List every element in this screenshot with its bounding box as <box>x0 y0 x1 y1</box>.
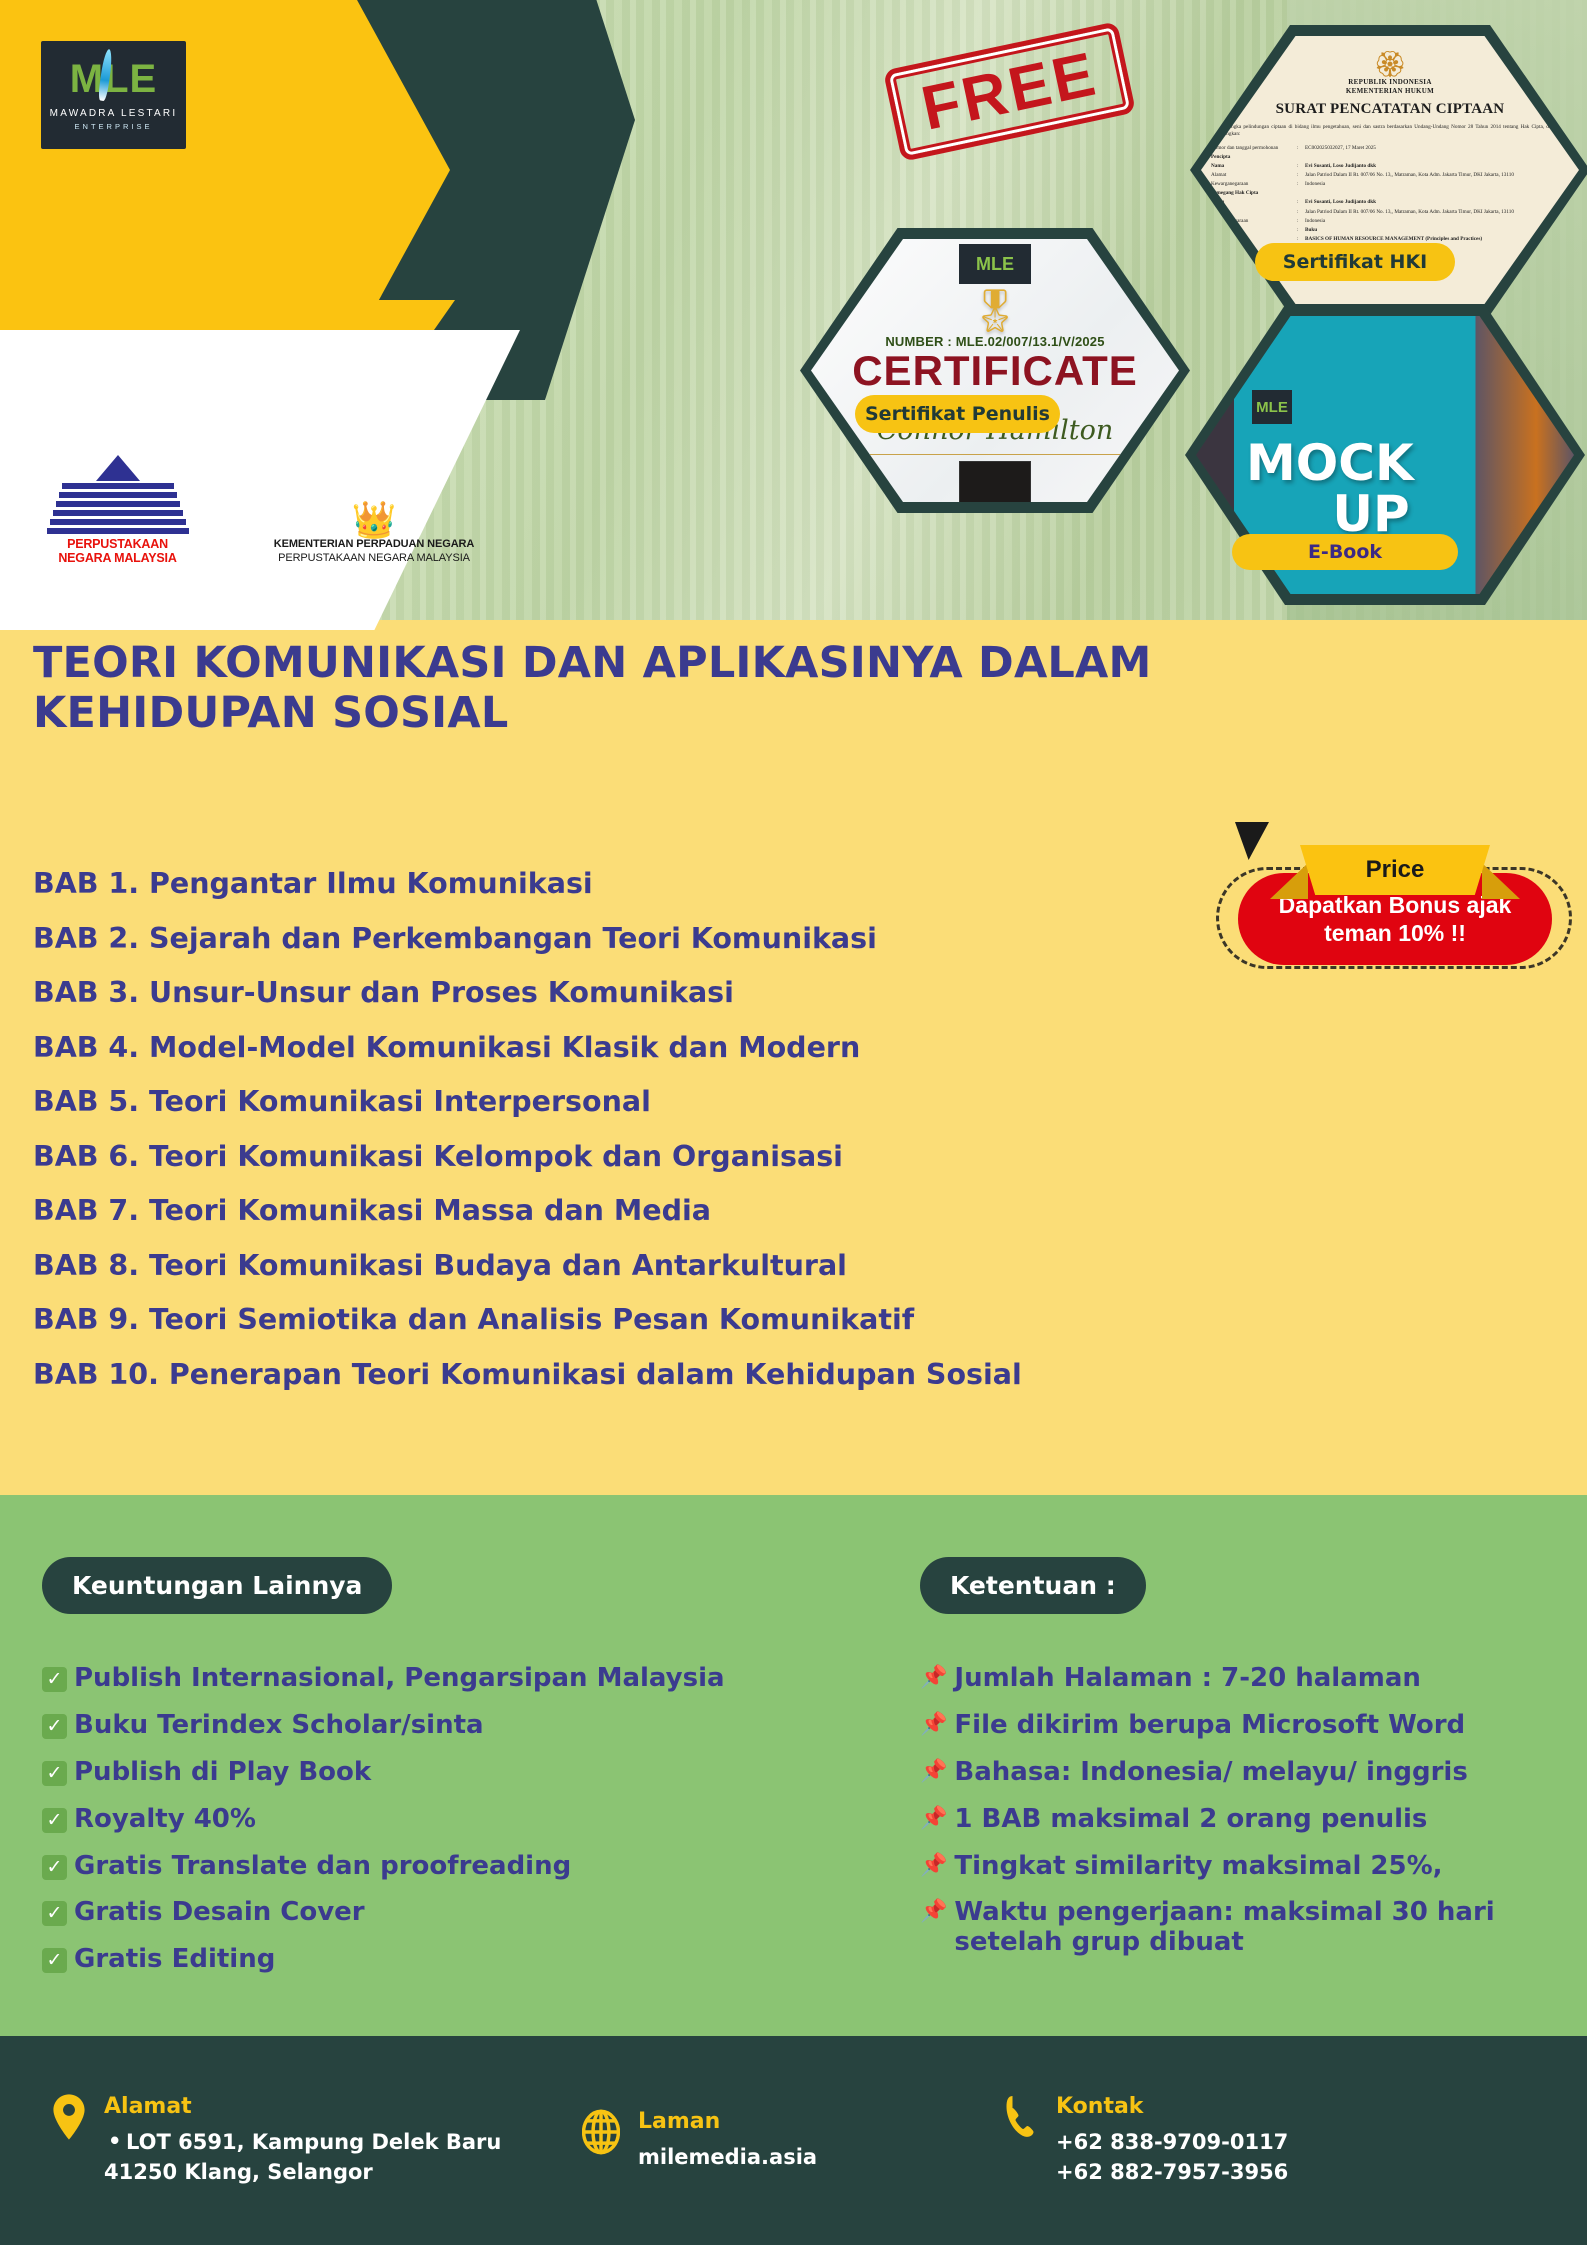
list-item: 📌Waktu pengerjaan: maksimal 30 hari sete… <box>920 1898 1560 1958</box>
pushpin-icon: 📌 <box>920 1898 947 1927</box>
list-item: ✓Publish di Play Book <box>42 1758 882 1788</box>
footer-address-block: Alamat LOT 6591, Kampung Delek Baru 4125… <box>52 2094 572 2188</box>
list-item: ✓Buku Terindex Scholar/sinta <box>42 1711 882 1741</box>
footer-contact-bar: Alamat LOT 6591, Kampung Delek Baru 4125… <box>0 2036 1587 2245</box>
list-item: ✓Publish Internasional, Pengarsipan Mala… <box>42 1664 882 1694</box>
list-item: ✓Gratis Editing <box>42 1945 882 1975</box>
library-logos: PERPUSTAKAAN NEGARA MALAYSIA 👑 KEMENTERI… <box>40 455 509 566</box>
terms-list: 📌Jumlah Halaman : 7-20 halaman 📌File dik… <box>920 1664 1560 1958</box>
footer-address-label: Alamat <box>104 2094 501 2119</box>
list-item: BAB 4. Model-Model Komunikasi Klasik dan… <box>33 1034 1283 1063</box>
hki-row: Pemegang Hak Cipta <box>1211 189 1569 197</box>
hki-field-rows: Nomor dan tanggal permohonan:EC002025032… <box>1211 144 1569 243</box>
logo-mark-icon: MLE <box>70 59 157 99</box>
list-item: BAB 6. Teori Komunikasi Kelompok dan Org… <box>33 1143 1283 1172</box>
mockup-line2: UP <box>1246 489 1496 540</box>
ebook-badge[interactable]: E-Book <box>1232 534 1458 570</box>
certificate-divider <box>870 454 1120 455</box>
certificate-document: MLE 🎖 NUMBER : MLE.02/007/13.1/V/2025 CE… <box>811 239 1179 502</box>
terms-heading: Ketentuan : <box>920 1557 1146 1614</box>
hki-row: Alamat:Jalan Patriod Dalam II Rt. 007/06… <box>1211 208 1569 216</box>
check-icon: ✓ <box>42 1667 67 1692</box>
brand-logo: MLE MAWADRA LESTARI ENTERPRISE <box>41 41 186 149</box>
perpustakaan-negara-malaysia-logo: PERPUSTAKAAN NEGARA MALAYSIA <box>40 455 195 566</box>
hki-row: Nomor dan tanggal permohonan:EC002025032… <box>1211 144 1569 152</box>
footer-address-line2: 41250 Klang, Selangor <box>104 2157 501 2187</box>
hki-republic-line: REPUBLIK INDONESIA KEMENTERIAN HUKUM <box>1211 78 1569 96</box>
footer-contact-label: Kontak <box>1056 2094 1288 2119</box>
check-icon: ✓ <box>42 1714 67 1739</box>
check-icon: ✓ <box>42 1855 67 1880</box>
list-item: ✓Royalty 40% <box>42 1805 882 1835</box>
logo-mark-text: MLE <box>70 57 157 101</box>
hki-paragraph: Dalam rangka pelindungan ciptaan di bida… <box>1211 124 1569 140</box>
hki-title: SURAT PENCATATAN CIPTAAN <box>1211 101 1569 118</box>
pushpin-icon: 📌 <box>920 1664 947 1693</box>
globe-icon <box>582 2109 620 2160</box>
list-item: 📌Tingkat similarity maksimal 25%, <box>920 1852 1560 1882</box>
list-item: ✓Gratis Translate dan proofreading <box>42 1852 882 1882</box>
list-item: BAB 1. Pengantar Ilmu Komunikasi <box>33 870 1283 899</box>
ministry-logo-caption: KEMENTERIAN PERPADUAN NEGARA PERPUSTAKAA… <box>239 538 509 566</box>
hki-row: Kewarganegaraan:Indonesia <box>1211 217 1569 225</box>
sertifikat-hki-badge[interactable]: Sertifikat HKI <box>1255 243 1455 281</box>
pushpin-icon: 📌 <box>920 1852 947 1881</box>
benefits-column: Keuntungan Lainnya ✓Publish Internasiona… <box>42 1557 882 1992</box>
mockup-line1: MOCK <box>1246 434 1414 492</box>
details-section: Keuntungan Lainnya ✓Publish Internasiona… <box>0 1495 1587 2036</box>
footer-website-block: Laman milemedia.asia <box>582 2109 1002 2172</box>
mockup-logo: MLE <box>1252 390 1292 424</box>
pushpin-icon: 📌 <box>920 1758 947 1787</box>
benefits-list: ✓Publish Internasional, Pengarsipan Mala… <box>42 1664 882 1975</box>
hki-row: Jenis Ciptaan:Buku <box>1211 226 1569 234</box>
hki-row: Pencipta <box>1211 153 1569 161</box>
certificate-heading: CERTIFICATE <box>811 349 1179 393</box>
terms-column: Ketentuan : 📌Jumlah Halaman : 7-20 halam… <box>920 1557 1560 1975</box>
chapter-list: BAB 1. Pengantar Ilmu Komunikasi BAB 2. … <box>33 870 1283 1415</box>
check-icon: ✓ <box>42 1901 67 1926</box>
list-item: 📌1 BAB maksimal 2 orang penulis <box>920 1805 1560 1835</box>
benefits-heading: Keuntungan Lainnya <box>42 1557 392 1614</box>
mockup-text: MOCK UP <box>1246 438 1496 540</box>
logo-company-sub: ENTERPRISE <box>75 122 153 131</box>
library-logo-caption: PERPUSTAKAAN NEGARA MALAYSIA <box>40 538 195 566</box>
price-bonus-line1: Dapatkan Bonus ajak <box>1279 891 1512 919</box>
malaysia-crest-icon: 👑 <box>239 502 509 538</box>
list-item: 📌Bahasa: Indonesia/ melayu/ inggris <box>920 1758 1560 1788</box>
certificate-book-thumbnail <box>959 461 1031 502</box>
kementerian-perpaduan-negara-logo: 👑 KEMENTERIAN PERPADUAN NEGARA PERPUSTAK… <box>239 502 509 566</box>
footer-phone-1[interactable]: +62 838-9709-0117 <box>1056 2127 1288 2157</box>
hero-section: MLE MAWADRA LESTARI ENTERPRISE FREE 🏵 RE… <box>0 0 1587 1495</box>
hki-row: Nama:Evi Susanti, Loso Judijanto dkk <box>1211 198 1569 206</box>
pushpin-icon: 📌 <box>920 1805 947 1834</box>
hki-row: Judul Ciptaan:BASICS OF HUMAN RESOURCE M… <box>1211 235 1569 243</box>
list-item: BAB 10. Penerapan Teori Komunikasi dalam… <box>33 1361 1283 1390</box>
pushpin-icon: 📌 <box>920 1711 947 1740</box>
price-bonus-line2: teman 10% !! <box>1324 919 1466 947</box>
sertifikat-penulis-badge[interactable]: Sertifikat Penulis <box>855 395 1060 433</box>
footer-website-value[interactable]: milemedia.asia <box>638 2142 817 2172</box>
hki-row: Kewarganegaraan:Indonesia <box>1211 180 1569 188</box>
book-title-block: TEORI KOMUNIKASI DAN APLIKASINYA DALAM K… <box>33 638 1183 739</box>
list-item: BAB 5. Teori Komunikasi Interpersonal <box>33 1088 1283 1117</box>
check-icon: ✓ <box>42 1808 67 1833</box>
price-ribbon-label: Price <box>1300 845 1490 895</box>
list-item: 📌File dikirim berupa Microsoft Word <box>920 1711 1560 1741</box>
check-icon: ✓ <box>42 1948 67 1973</box>
list-item: BAB 7. Teori Komunikasi Massa dan Media <box>33 1197 1283 1226</box>
list-item: ✓Gratis Desain Cover <box>42 1898 882 1928</box>
footer-phone-2[interactable]: +62 882-7957-3956 <box>1056 2157 1288 2187</box>
hki-row: Nama:Evi Susanti, Loso Judijanto dkk <box>1211 162 1569 170</box>
certificate-logo: MLE <box>959 244 1031 284</box>
phone-icon <box>1002 2094 1038 2145</box>
footer-website-label: Laman <box>638 2109 817 2134</box>
library-building-icon <box>40 455 195 533</box>
location-pin-icon <box>52 2094 86 2145</box>
footer-contact-block: Kontak +62 838-9709-0117 +62 882-7957-39… <box>1002 2094 1442 2188</box>
list-item: BAB 8. Teori Komunikasi Budaya dan Antar… <box>33 1252 1283 1281</box>
logo-company-name: MAWADRA LESTARI <box>50 108 178 119</box>
list-item: 📌Jumlah Halaman : 7-20 halaman <box>920 1664 1560 1694</box>
hki-row: Alamat:Jalan Patriod Dalam II Rt. 007/06… <box>1211 171 1569 179</box>
footer-address-line1: LOT 6591, Kampung Delek Baru <box>104 2127 501 2157</box>
list-item: BAB 2. Sejarah dan Perkembangan Teori Ko… <box>33 925 1283 954</box>
list-item: BAB 3. Unsur-Unsur dan Proses Komunikasi <box>33 979 1283 1008</box>
list-item: BAB 9. Teori Semiotika dan Analisis Pesa… <box>33 1306 1283 1335</box>
page-title: TEORI KOMUNIKASI DAN APLIKASINYA DALAM K… <box>33 638 1183 739</box>
check-icon: ✓ <box>42 1761 67 1786</box>
shield-award-icon: 🎖 <box>811 290 1179 332</box>
